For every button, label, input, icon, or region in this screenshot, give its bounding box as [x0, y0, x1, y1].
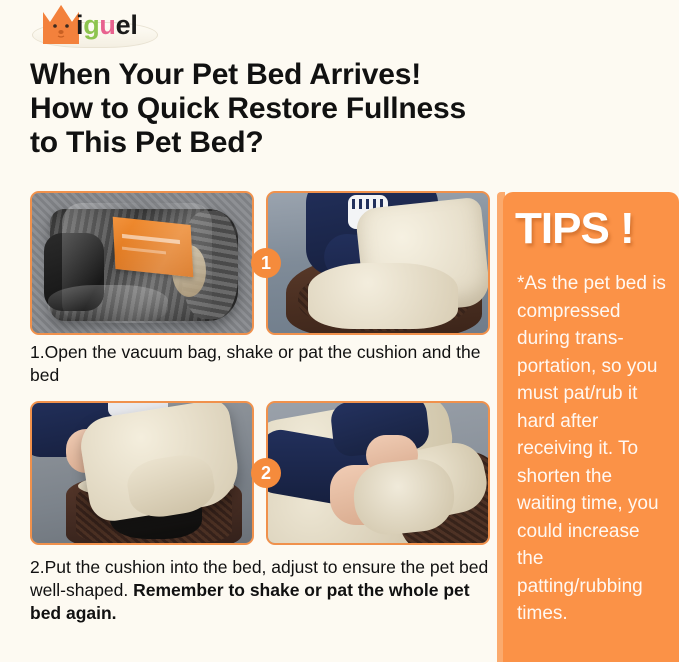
page-title-line-2: How to Quick Restore Fullness	[30, 92, 600, 126]
infographic-page: iguel When Your Pet Bed Arrives! How to …	[0, 0, 679, 662]
step-1-caption: 1.Open the vacuum bag, shake or pat the …	[30, 341, 498, 387]
step-1-photo-row: 1	[30, 191, 492, 335]
brand-logo: iguel	[28, 2, 228, 48]
tips-title: TIPS !	[515, 206, 634, 252]
brand-wordmark: iguel	[76, 8, 138, 42]
step-2-photo-patting-bed	[266, 401, 490, 545]
step-1-photo-lifting-cushion	[266, 191, 490, 335]
step-2-photo-row: 2	[30, 401, 492, 545]
step-1-badge: 1	[251, 248, 281, 278]
step-1-caption-text: 1.Open the vacuum bag, shake or pat the …	[30, 342, 480, 385]
tips-panel: TIPS ! *As the pet bed is compressed dur…	[503, 192, 679, 662]
step-2-badge: 2	[251, 458, 281, 488]
page-title-line-3: to This Pet Bed?	[30, 126, 600, 160]
brand-letter-l: l	[130, 10, 137, 40]
brand-letter-g: g	[83, 10, 99, 40]
brand-letter-e: e	[116, 10, 131, 40]
step-2-caption: 2.Put the cushion into the bed, adjust t…	[30, 556, 498, 625]
step-1-photo-vacuum-bag	[30, 191, 254, 335]
page-title-line-1: When Your Pet Bed Arrives!	[30, 58, 600, 92]
step-2-photo-inserting-cushion	[30, 401, 254, 545]
page-title: When Your Pet Bed Arrives! How to Quick …	[30, 58, 600, 160]
tips-body: *As the pet bed is compressed during tra…	[517, 270, 667, 628]
brand-letter-u: u	[99, 10, 115, 40]
